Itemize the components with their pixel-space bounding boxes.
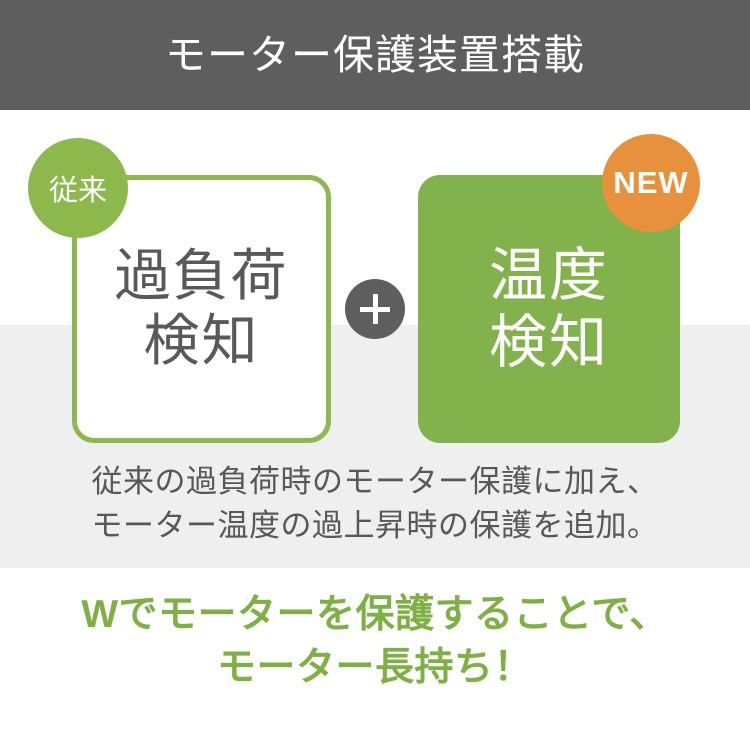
card-conventional-line-2: 検知 (144, 309, 260, 374)
plus-icon-vertical-bar (373, 294, 378, 324)
description-line-2: モーター温度の過上昇時の保護を追加。 (0, 504, 750, 548)
card-new-feature-line-1: 温度 (489, 242, 609, 309)
plus-icon (345, 279, 405, 339)
description-block: 従来の過負荷時のモーター保護に加え、 モーター温度の過上昇時の保護を追加。 (0, 460, 750, 548)
badge-new: NEW (602, 134, 700, 232)
tagline-line-1: Wでモーターを保護することで、 (0, 588, 750, 641)
card-conventional-line-1: 過負荷 (115, 244, 289, 309)
tagline-block: Wでモーターを保護することで、 モーター長持ち！ (0, 588, 750, 694)
tagline-line-2: モーター長持ち！ (0, 641, 750, 694)
infographic-root: モーター保護装置搭載 過負荷 検知 従来 温度 検知 NEW (0, 0, 750, 750)
comparison-section: 過負荷 検知 従来 温度 検知 NEW (0, 110, 750, 460)
description-line-1: 従来の過負荷時のモーター保護に加え、 (0, 460, 750, 504)
badge-new-label: NEW (613, 165, 688, 201)
card-new-feature-line-2: 検知 (489, 309, 609, 376)
page-title: モーター保護装置搭載 (165, 35, 585, 76)
badge-conventional-label: 従来 (49, 167, 107, 209)
badge-conventional: 従来 (28, 138, 128, 238)
header-bar: モーター保護装置搭載 (0, 0, 750, 110)
